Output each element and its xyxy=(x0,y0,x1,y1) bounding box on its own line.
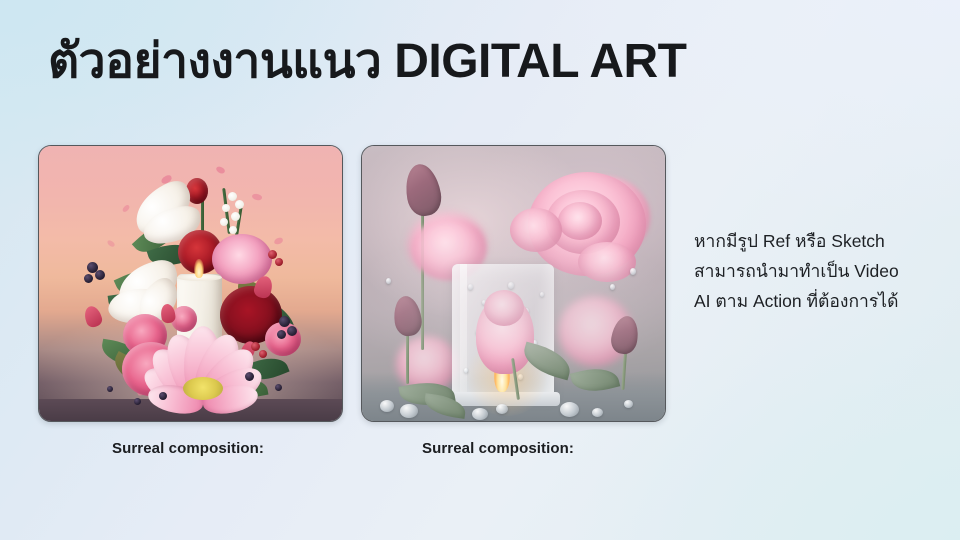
artwork-frosted-candle-roses xyxy=(362,146,665,421)
digital-art-sample-1-card[interactable] xyxy=(38,145,343,422)
side-note-line-1: หากมีรูป Ref หรือ Sketch xyxy=(694,226,952,256)
caption-sample-1: Surreal composition: xyxy=(112,440,264,457)
caption-sample-2: Surreal composition: xyxy=(422,440,574,457)
page-title: ตัวอย่างงานแนว DIGITAL ART xyxy=(48,34,686,89)
side-note: หากมีรูป Ref หรือ Sketch สามารถนำมาทำเป็… xyxy=(694,226,952,316)
side-note-line-2: สามารถนำมาทำเป็น Video xyxy=(694,256,952,286)
artwork-sunset-floral-candle xyxy=(39,146,342,421)
digital-art-sample-2-card[interactable] xyxy=(361,145,666,422)
slide-canvas: ตัวอย่างงานแนว DIGITAL ART xyxy=(0,0,960,540)
side-note-line-3: AI ตาม Action ที่ต้องการได้ xyxy=(694,286,952,316)
